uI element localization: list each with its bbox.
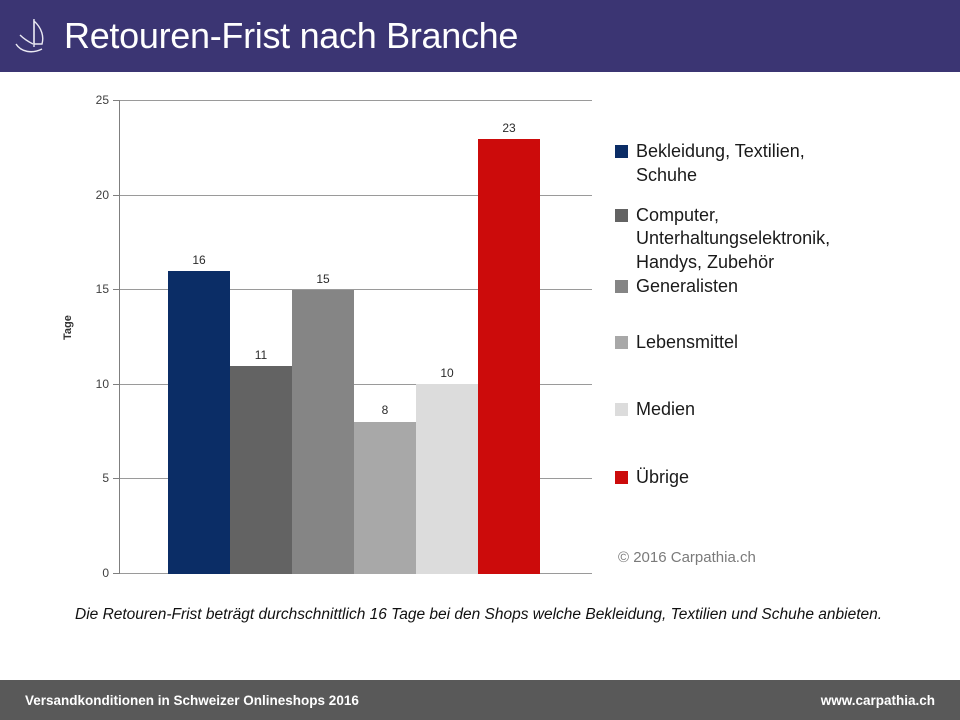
y-tick-15 bbox=[113, 289, 119, 290]
legend-item-uebrige[interactable]: Übrige bbox=[615, 466, 945, 490]
sailboat-icon bbox=[8, 13, 54, 59]
y-tick-label-20: 20 bbox=[69, 189, 109, 201]
chart-legend: Bekleidung, Textilien, Schuhe Computer, … bbox=[615, 140, 945, 490]
bar-slot-medien[interactable]: 10 bbox=[416, 100, 478, 574]
y-tick-25 bbox=[113, 100, 119, 101]
bar-slot-uebrige[interactable]: 23 bbox=[478, 100, 540, 574]
y-tick-0 bbox=[113, 573, 119, 574]
bar-value-5: 23 bbox=[478, 122, 540, 134]
copyright-notice: © 2016 Carpathia.ch bbox=[618, 549, 756, 566]
bar-5[interactable] bbox=[478, 139, 540, 574]
bar-series: 16 11 15 8 10 23 bbox=[168, 100, 540, 574]
legend-item-computer[interactable]: Computer, Unterhaltungselektronik, Handy… bbox=[615, 204, 945, 275]
y-axis-title: Tage bbox=[62, 315, 74, 340]
bar-slot-lebensmittel[interactable]: 8 bbox=[354, 100, 416, 574]
bar-slot-computer[interactable]: 11 bbox=[230, 100, 292, 574]
legend-label-bekleidung: Bekleidung, Textilien, Schuhe bbox=[636, 140, 805, 188]
bar-1[interactable] bbox=[230, 366, 292, 574]
y-tick-5 bbox=[113, 478, 119, 479]
footer-website-link[interactable]: www.carpathia.ch bbox=[821, 693, 935, 708]
legend-item-generalisten[interactable]: Generalisten bbox=[615, 275, 945, 299]
y-axis-line bbox=[119, 100, 120, 574]
page-header: Retouren-Frist nach Branche bbox=[0, 0, 960, 72]
bar-0[interactable] bbox=[168, 271, 230, 574]
bar-value-1: 11 bbox=[230, 349, 292, 361]
legend-swatch-icon-uebrige bbox=[615, 471, 628, 484]
page-title: Retouren-Frist nach Branche bbox=[64, 15, 518, 57]
bar-value-3: 8 bbox=[354, 404, 416, 416]
chart-caption: Die Retouren-Frist beträgt durchschnittl… bbox=[75, 603, 935, 626]
y-tick-label-25: 25 bbox=[69, 94, 109, 106]
bar-2[interactable] bbox=[292, 290, 354, 574]
chart-container: 25 20 15 10 5 0 Tage 16 11 15 8 10 23 bbox=[0, 72, 960, 680]
page-footer: Versandkonditionen in Schweizer Onlinesh… bbox=[0, 680, 960, 720]
bar-value-0: 16 bbox=[168, 254, 230, 266]
legend-label-computer: Computer, Unterhaltungselektronik, Handy… bbox=[636, 204, 830, 275]
bar-slot-generalisten[interactable]: 15 bbox=[292, 100, 354, 574]
legend-label-generalisten: Generalisten bbox=[636, 275, 738, 299]
bar-slot-bekleidung[interactable]: 16 bbox=[168, 100, 230, 574]
y-tick-label-5: 5 bbox=[69, 472, 109, 484]
bar-value-2: 15 bbox=[292, 273, 354, 285]
legend-swatch-icon-generalisten bbox=[615, 280, 628, 293]
bar-value-4: 10 bbox=[416, 367, 478, 379]
y-tick-label-15: 15 bbox=[69, 283, 109, 295]
bar-3[interactable] bbox=[354, 422, 416, 574]
footer-report-title: Versandkonditionen in Schweizer Onlinesh… bbox=[25, 693, 359, 708]
y-tick-20 bbox=[113, 195, 119, 196]
legend-label-lebensmittel: Lebensmittel bbox=[636, 331, 738, 355]
y-tick-10 bbox=[113, 384, 119, 385]
y-tick-label-10: 10 bbox=[69, 378, 109, 390]
legend-swatch-icon-bekleidung bbox=[615, 145, 628, 158]
bar-4[interactable] bbox=[416, 384, 478, 574]
legend-label-uebrige: Übrige bbox=[636, 466, 689, 490]
legend-swatch-icon-medien bbox=[615, 403, 628, 416]
y-tick-label-0: 0 bbox=[69, 567, 109, 579]
legend-swatch-icon-computer bbox=[615, 209, 628, 222]
legend-item-medien[interactable]: Medien bbox=[615, 398, 945, 422]
legend-item-bekleidung[interactable]: Bekleidung, Textilien, Schuhe bbox=[615, 140, 945, 188]
legend-label-medien: Medien bbox=[636, 398, 695, 422]
legend-swatch-icon-lebensmittel bbox=[615, 336, 628, 349]
legend-item-lebensmittel[interactable]: Lebensmittel bbox=[615, 331, 945, 355]
